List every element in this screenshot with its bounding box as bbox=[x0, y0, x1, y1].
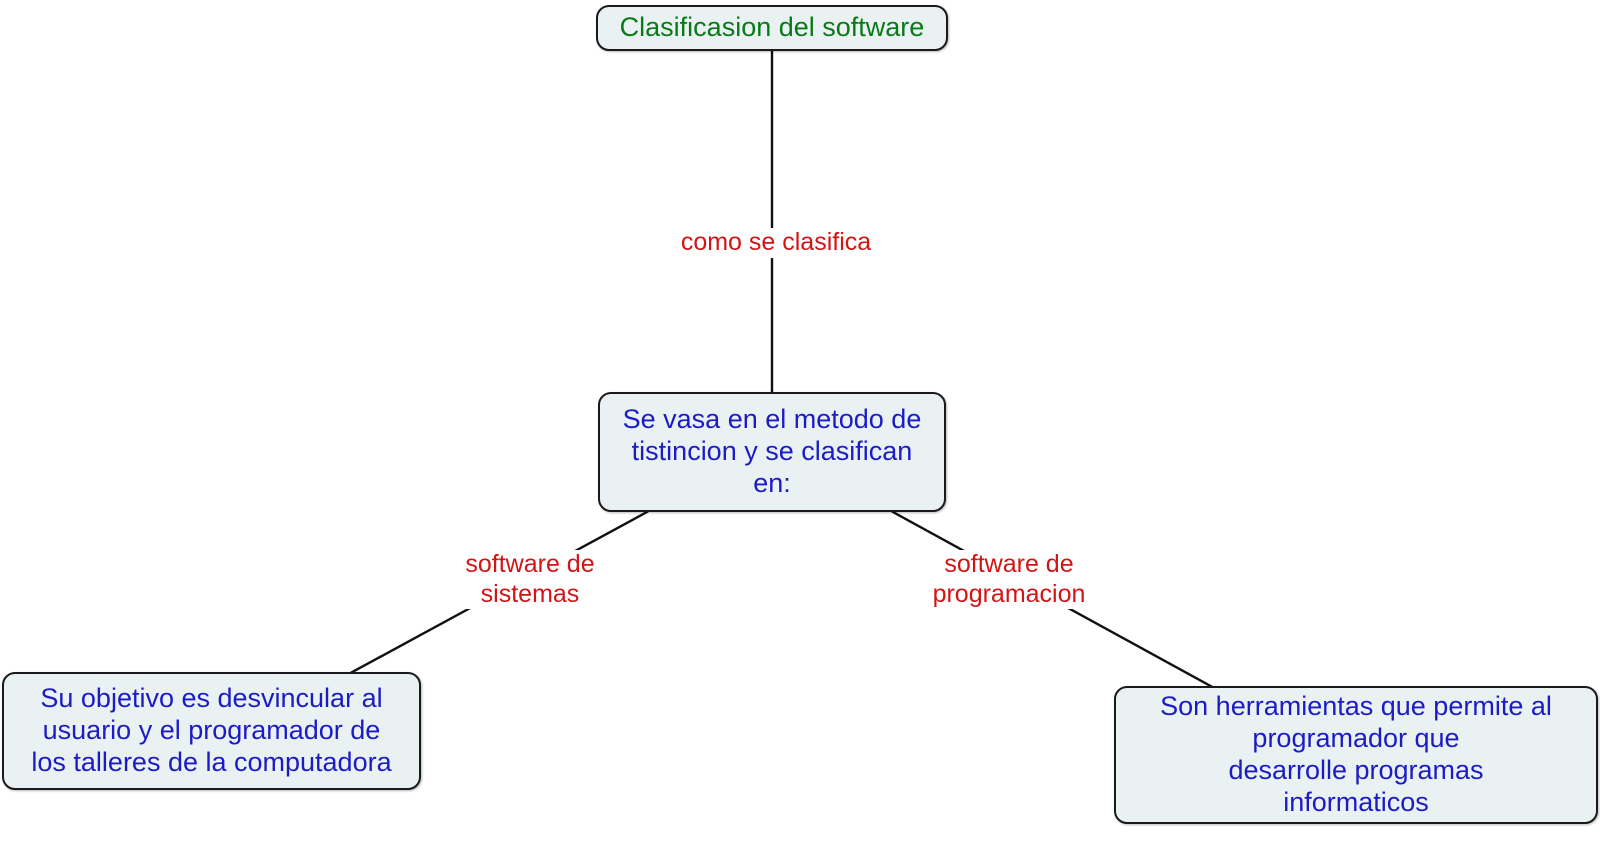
node-root-clasificasion-del-software[interactable]: Clasificasion del software bbox=[596, 5, 948, 51]
node-software-de-programacion-definition[interactable]: Son herramientas que permite al programa… bbox=[1114, 686, 1598, 824]
concept-map-canvas: Clasificasion del software como se clasi… bbox=[0, 0, 1600, 844]
edge-label-como-se-clasifica: como se clasifica bbox=[655, 228, 897, 258]
node-metodo-de-tistincion[interactable]: Se vasa en el metodo de tistincion y se … bbox=[598, 392, 946, 512]
edge-label-software-de-sistemas: software de sistemas bbox=[430, 550, 630, 609]
edge-label-software-de-programacion: software de programacion bbox=[910, 550, 1108, 609]
node-software-de-sistemas-definition[interactable]: Su objetivo es desvincular al usuario y … bbox=[2, 672, 421, 790]
